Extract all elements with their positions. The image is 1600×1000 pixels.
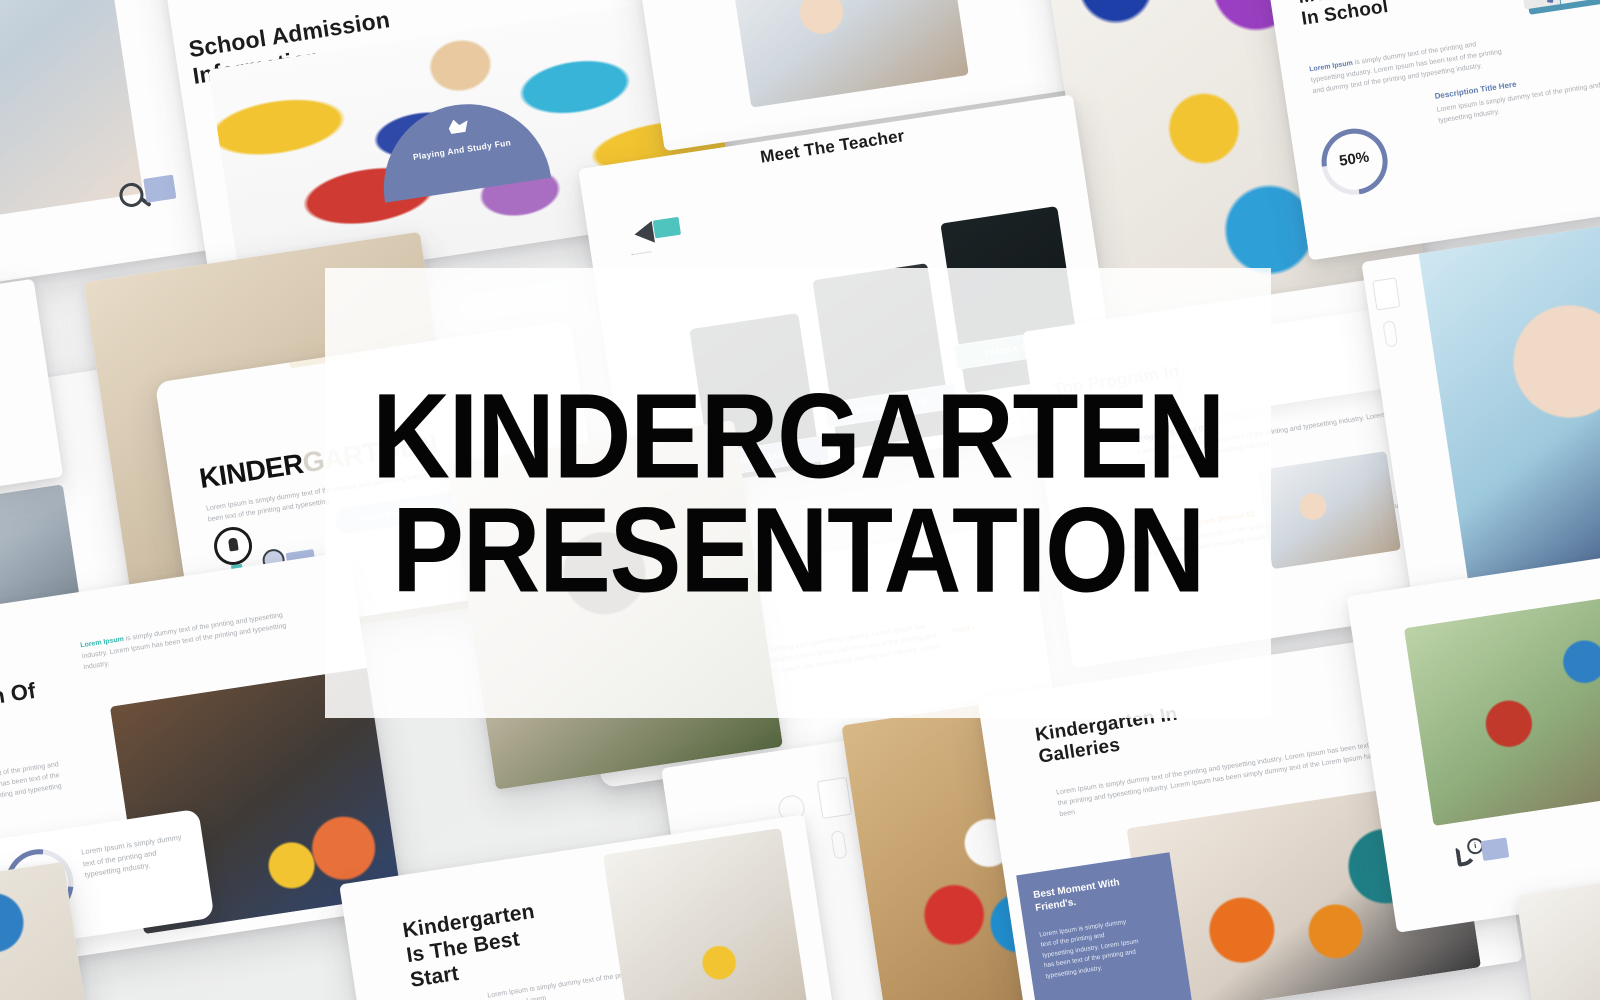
cover-title-dark: KINDER xyxy=(197,448,305,494)
title-line-2: PRESENTATION xyxy=(392,490,1204,611)
slide-title: Distribution Of Lesson's xyxy=(0,668,104,752)
slide-body: Lorem Ipsum is simply dummy text of the … xyxy=(0,746,85,828)
progress-ring-icon: 50% xyxy=(1317,124,1392,199)
book-pencil-icon xyxy=(1518,0,1600,17)
slide-modern-learning[interactable]: Modern Learning In School Lorem Ipsum is… xyxy=(1265,0,1600,260)
document-icon xyxy=(1372,277,1400,310)
paperclip-icon xyxy=(1382,320,1398,348)
astronaut-photo xyxy=(1419,217,1600,589)
kite-icon xyxy=(633,221,655,246)
slide-body-2: Lorem Ipsum is simply dummy text of the … xyxy=(78,596,312,673)
panel-body: Lorem Ipsum is simply dummy text of the … xyxy=(1039,911,1175,982)
program-photo xyxy=(1258,451,1401,569)
slide-title: Kindergarten Is The Best Start xyxy=(401,891,600,993)
handshake-icon xyxy=(447,118,469,135)
presentation-mockup-collage: School Admission Information Lorem Ipsum… xyxy=(0,0,1600,1000)
playground-photo xyxy=(1404,586,1600,826)
students-photo xyxy=(729,0,969,108)
paperclip-icon xyxy=(830,830,847,860)
presentation-title: KINDERGARTEN PRESENTATION xyxy=(325,268,1271,718)
title-line-1: KINDERGARTEN xyxy=(372,376,1224,497)
slide-kindergarten-best-start[interactable]: Kindergarten Is The Best Start Lorem Ips… xyxy=(339,814,843,1000)
document-icon xyxy=(817,777,852,819)
best-moment-panel: Best Moment With Friend's. Lorem Ipsum i… xyxy=(1016,852,1193,1000)
body-rest: is simply dummy text of the printing and… xyxy=(0,761,62,825)
kid-photo xyxy=(603,828,811,1000)
badge-label: Playing And Study Fun xyxy=(378,132,546,167)
panel-title: Best Moment With Friend's. xyxy=(1032,870,1164,915)
